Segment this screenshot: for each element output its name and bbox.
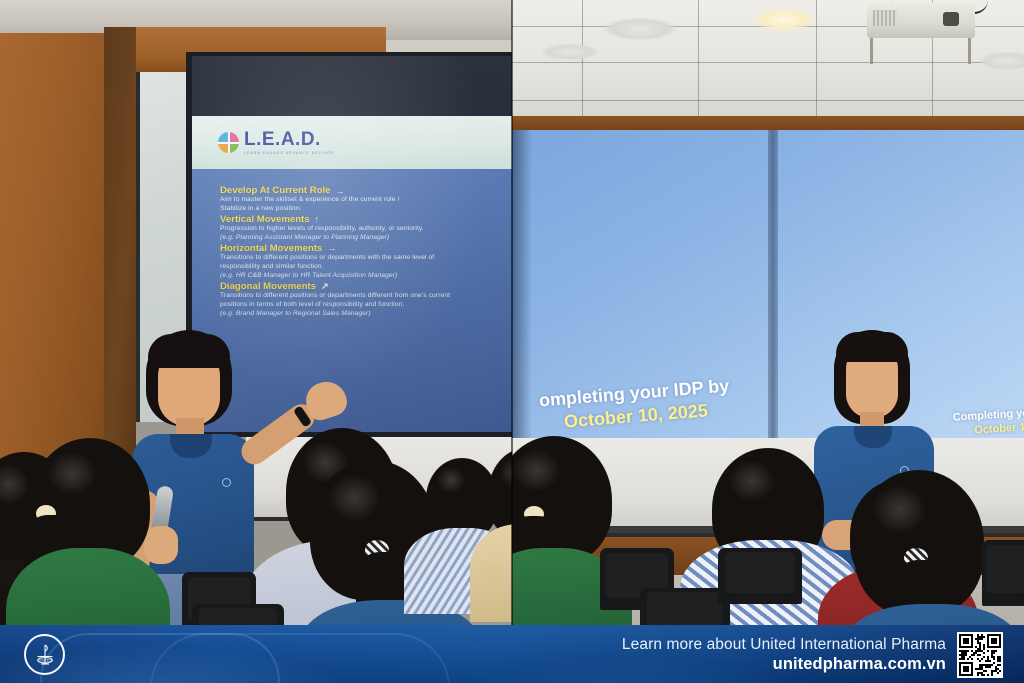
projector-lens-icon — [943, 12, 959, 26]
svg-text:UNITED: UNITED — [37, 658, 52, 662]
banner-website-url[interactable]: unitedpharma.com.vn — [566, 654, 946, 675]
slide-line: positions in terms of both level of resp… — [220, 301, 498, 310]
ceiling-light-icon — [604, 18, 676, 40]
lead-wordmark: L.E.A.D. — [244, 130, 334, 149]
projected-main-text: ompleting your IDP by October 10, 2025 — [512, 371, 771, 437]
projector-mount-pole — [870, 38, 873, 64]
slide-line: Transitions to different positions or de… — [220, 292, 498, 301]
left-photo: L.E.A.D. LEARN ENGAGE ADVANCE DELIVER De… — [0, 0, 512, 683]
presenter-fringe — [148, 334, 230, 368]
slide-example: (e.g. HR C&B Manager to HR Talent Acquis… — [220, 272, 498, 281]
united-pharma-logo-icon: UNITED — [24, 634, 65, 675]
lead-quadrant-circle-icon — [218, 132, 239, 153]
audience-chair — [982, 540, 1024, 606]
slide-line: Progression to higher levels of responsi… — [220, 225, 498, 234]
ceiling-light-icon — [980, 52, 1024, 70]
slide-heading: Horizontal Movements → — [220, 243, 498, 254]
slide-line: Transitions to different positions or de… — [220, 254, 498, 263]
banner-tagline: Learn more about United International Ph… — [566, 635, 946, 654]
screen-seam — [768, 130, 778, 438]
slide-header-band: L.E.A.D. LEARN ENGAGE ADVANCE DELIVER — [192, 116, 512, 169]
diagonal-arrow-icon: ↗ — [321, 281, 329, 292]
projector-vent — [873, 10, 897, 26]
presenter-hand-holding-mic — [144, 526, 178, 564]
slide-example: (e.g. Brand Manager to Regional Sales Ma… — [220, 310, 498, 319]
slide-section-horizontal: Horizontal Movements → Transitions to di… — [220, 243, 498, 281]
right-arrow-icon: → — [327, 243, 336, 253]
banner-text-block: Learn more about United International Ph… — [566, 635, 946, 676]
photo-divider — [511, 0, 513, 625]
slide-line: responsibility and similar function. — [220, 263, 498, 272]
projector-mount-pole — [968, 38, 971, 64]
lead-subtitle: LEARN ENGAGE ADVANCE DELIVER — [244, 151, 334, 155]
slide-section-diagonal: Diagonal Movements ↗ Transitions to diff… — [220, 281, 498, 319]
slide-heading-text: Horizontal Movements — [220, 243, 322, 254]
presenter-fringe — [836, 332, 908, 362]
ceiling-light-icon — [542, 44, 598, 60]
slide-heading: Develop At Current Role → — [220, 185, 498, 196]
slide-heading-text: Develop At Current Role — [220, 185, 331, 196]
slide-section-develop: Develop At Current Role → Aim to master … — [220, 185, 498, 214]
audience-chair — [718, 548, 802, 604]
slide-heading: Vertical Movements ↑ — [220, 214, 498, 225]
projected-side-line: Completing your IDP — [952, 405, 1024, 424]
right-arrow-icon: → — [336, 186, 345, 196]
ceiling-light-icon — [752, 8, 816, 32]
slide-line: Stabilize in a new position. — [220, 205, 498, 214]
slide-heading-text: Diagonal Movements — [220, 281, 316, 292]
banner-decor-curve — [150, 633, 450, 683]
brand-banner: UNITED Learn more about United Internati… — [0, 625, 1024, 683]
lead-logo: L.E.A.D. LEARN ENGAGE ADVANCE DELIVER — [218, 130, 334, 155]
qr-code[interactable] — [957, 632, 1003, 678]
screenshot-root: L.E.A.D. LEARN ENGAGE ADVANCE DELIVER De… — [0, 0, 1024, 683]
polo-chest-logo-icon — [222, 478, 231, 487]
right-room-background: ompleting your IDP by October 10, 2025 C… — [512, 0, 1024, 683]
right-photo: ompleting your IDP by October 10, 2025 C… — [512, 0, 1024, 683]
ceiling-projector — [867, 2, 975, 38]
left-room-background: L.E.A.D. LEARN ENGAGE ADVANCE DELIVER De… — [0, 0, 512, 683]
slide-example: (e.g. Planning Assistant Manager to Plan… — [220, 234, 498, 243]
up-arrow-icon: ↑ — [315, 214, 320, 224]
slide-heading: Diagonal Movements ↗ — [220, 281, 498, 292]
slide-line: Aim to master the skillset & experience … — [220, 196, 498, 205]
right-wall-trim — [512, 116, 1024, 130]
slide-section-vertical: Vertical Movements ↑ Progression to high… — [220, 214, 498, 243]
slide-heading-text: Vertical Movements — [220, 214, 310, 225]
